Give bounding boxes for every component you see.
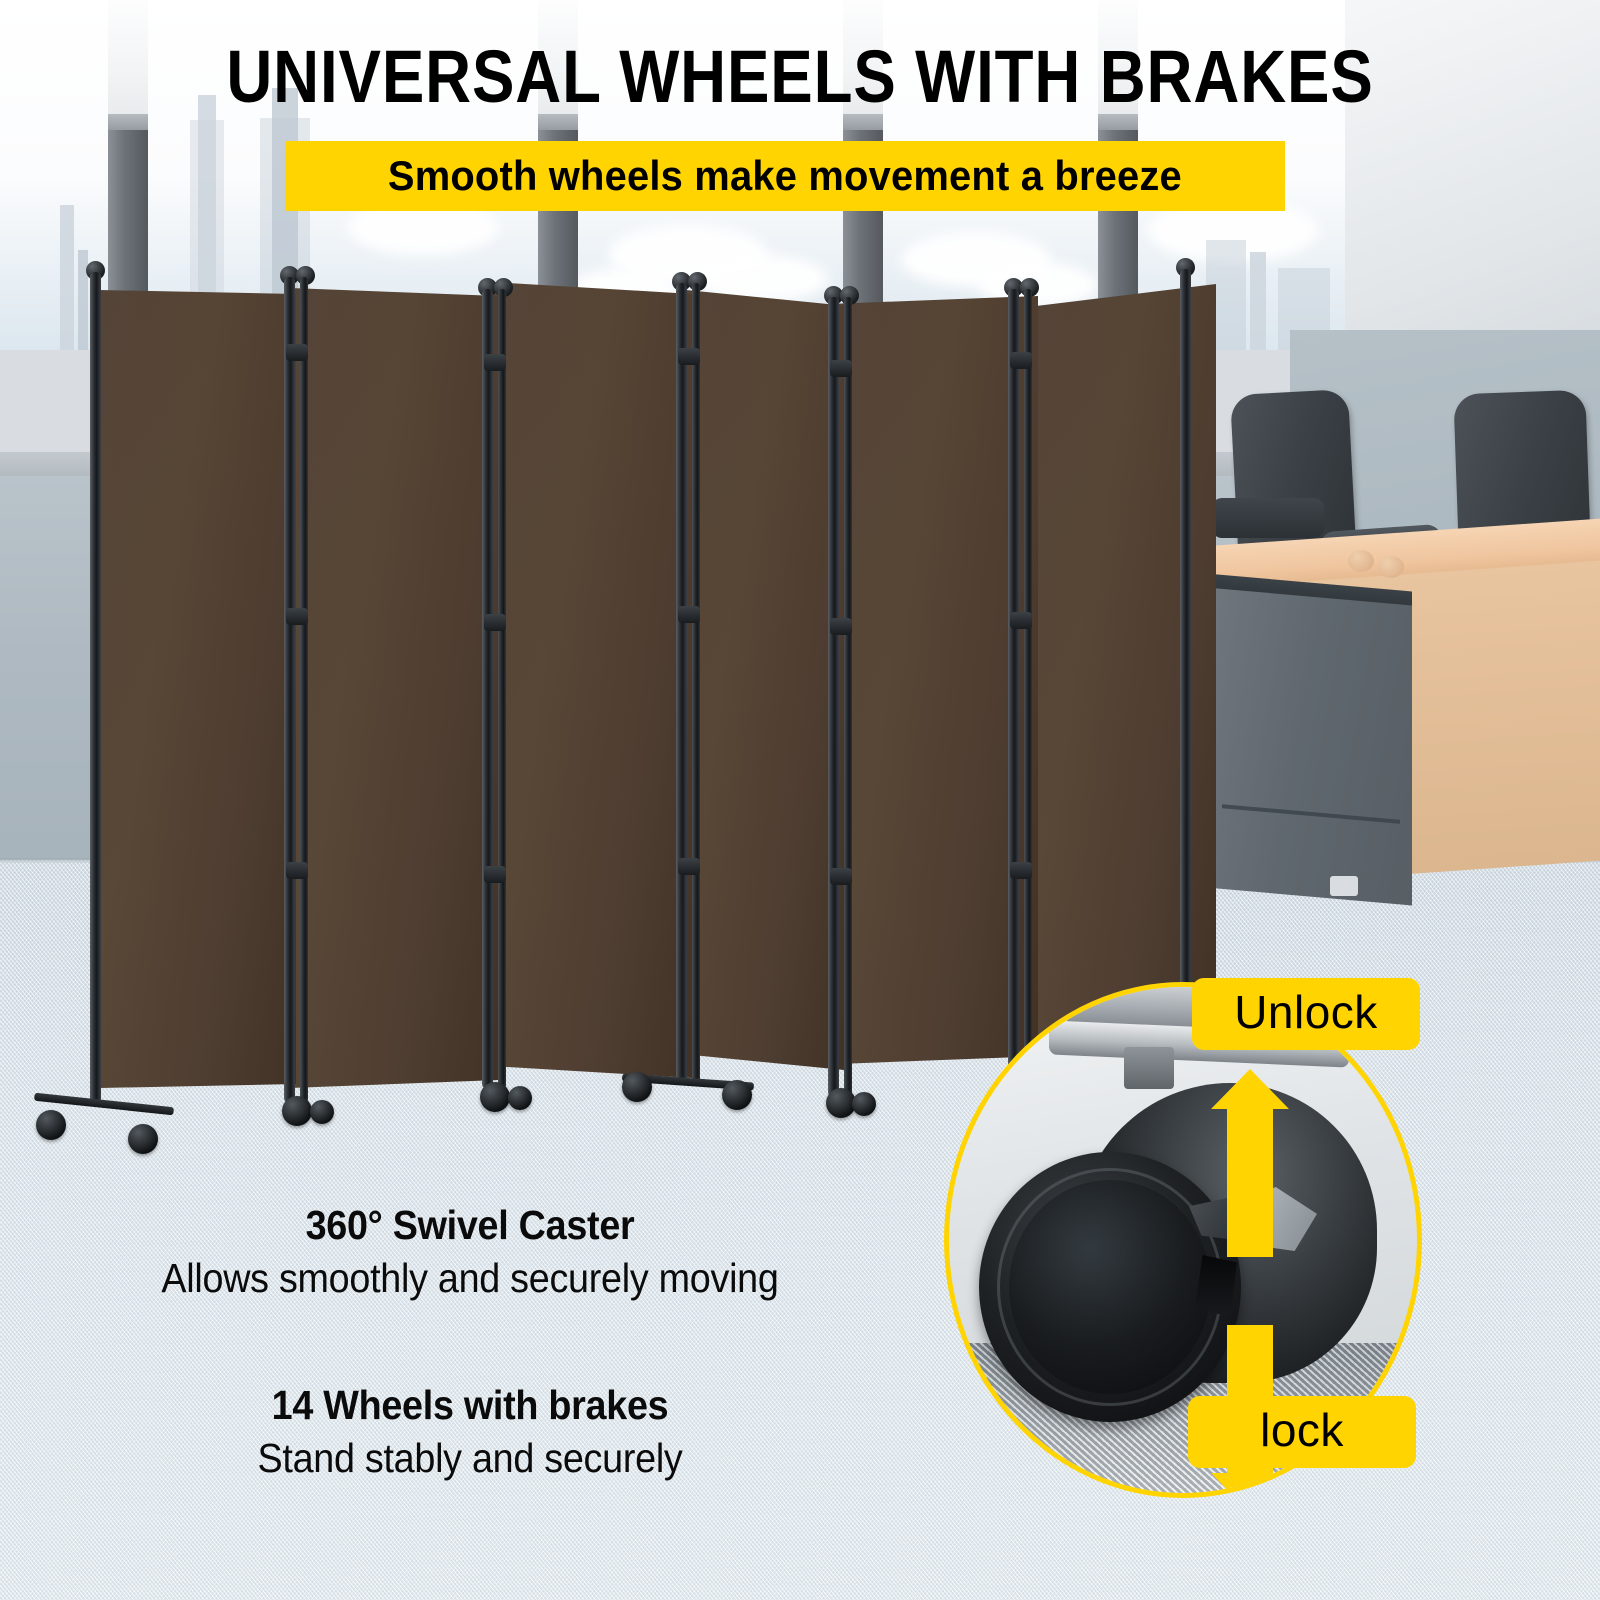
feature-subtext-2: Stand stably and securely bbox=[65, 1435, 875, 1482]
divider-caster-4a bbox=[622, 1072, 652, 1102]
divider-clamp-2-top bbox=[286, 344, 308, 361]
divider-clamp-3-low bbox=[484, 866, 506, 883]
divider-pole-4a bbox=[676, 283, 687, 1083]
divider-caster-3a bbox=[480, 1082, 510, 1112]
feature-block-wheels-brakes: 14 Wheels with brakes Stand stably and s… bbox=[30, 1382, 910, 1482]
feature-heading-2: 14 Wheels with brakes bbox=[65, 1382, 875, 1429]
divider-clamp-6-top bbox=[1010, 352, 1032, 369]
unlock-badge: Unlock bbox=[1192, 978, 1420, 1050]
divider-clamp-2-low bbox=[286, 862, 308, 879]
divider-pole-6b bbox=[1024, 289, 1032, 1079]
product-infographic: Unlock lock UNIVERSAL WHEELS WITH BRAKES… bbox=[0, 0, 1600, 1600]
unlock-arrow-up-icon bbox=[1227, 1105, 1273, 1257]
divider-panel-1 bbox=[100, 290, 296, 1088]
subtitle-banner-text: Smooth wheels make movement a breeze bbox=[388, 152, 1182, 200]
divider-pole-5a bbox=[828, 297, 839, 1097]
divider-clamp-3-mid bbox=[484, 614, 506, 631]
divider-clamp-5-mid bbox=[830, 618, 852, 635]
divider-caster-2b bbox=[310, 1100, 334, 1124]
divider-panel-4 bbox=[686, 290, 844, 1070]
divider-clamp-2-mid bbox=[286, 608, 308, 625]
desk-knob-1 bbox=[1348, 550, 1374, 572]
divider-clamp-5-low bbox=[830, 868, 852, 885]
feature-subtext-1: Allows smoothly and securely moving bbox=[65, 1255, 875, 1302]
divider-pole-6a bbox=[1008, 289, 1019, 1079]
brake-lever-slot bbox=[1195, 1255, 1237, 1317]
lock-badge: lock bbox=[1188, 1396, 1416, 1468]
divider-caster-4b bbox=[722, 1080, 752, 1110]
divider-caster-5b bbox=[852, 1092, 876, 1116]
divider-clamp-5-top bbox=[830, 360, 852, 377]
divider-pole-3b bbox=[498, 289, 506, 1089]
divider-clamp-3-top bbox=[484, 354, 506, 371]
divider-clamp-6-mid bbox=[1010, 612, 1032, 629]
subtitle-banner: Smooth wheels make movement a breeze bbox=[285, 141, 1285, 211]
feature-block-swivel-caster: 360° Swivel Caster Allows smoothly and s… bbox=[30, 1202, 910, 1302]
divider-pole-7 bbox=[1180, 269, 1191, 1017]
divider-clamp-4-low bbox=[678, 858, 700, 875]
divider-caster-1a bbox=[36, 1110, 66, 1140]
divider-pole-1 bbox=[90, 272, 101, 1104]
divider-pole-5b bbox=[844, 297, 852, 1097]
divider-caster-1b bbox=[128, 1124, 158, 1154]
page-title: UNIVERSAL WHEELS WITH BRAKES bbox=[112, 34, 1488, 119]
desk-knob-2 bbox=[1378, 556, 1404, 578]
divider-caster-3b bbox=[508, 1086, 532, 1110]
caster-wheel-face bbox=[1009, 1180, 1211, 1394]
divider-pole-3a bbox=[482, 289, 493, 1089]
divider-caster-2a bbox=[282, 1096, 312, 1126]
divider-clamp-4-top bbox=[678, 348, 700, 365]
divider-clamp-4-mid bbox=[678, 606, 700, 623]
divider-pole-2b bbox=[300, 277, 308, 1103]
caster-stem bbox=[1124, 1047, 1174, 1089]
feature-heading-1: 360° Swivel Caster bbox=[65, 1202, 875, 1249]
divider-panel-3 bbox=[492, 282, 692, 1078]
divider-panel-2 bbox=[290, 288, 498, 1088]
divider-pole-4b bbox=[692, 283, 700, 1083]
divider-clamp-6-low bbox=[1010, 862, 1032, 879]
divider-pole-2a bbox=[284, 277, 295, 1103]
cabinet-foot bbox=[1330, 876, 1358, 896]
